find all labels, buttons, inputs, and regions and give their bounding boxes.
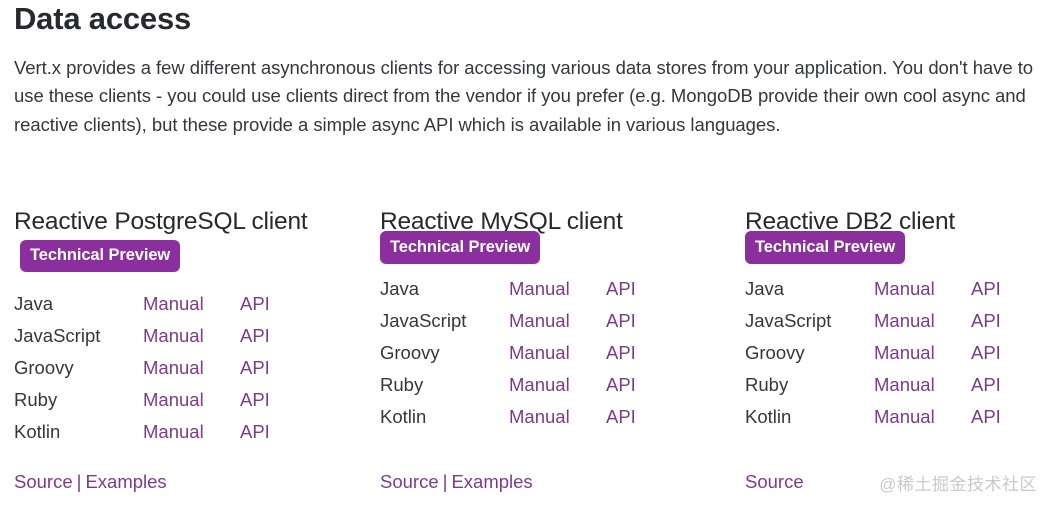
examples-link[interactable]: Examples: [451, 471, 532, 492]
link-separator: |: [439, 471, 452, 492]
table-row: Kotlin Manual API: [14, 416, 270, 448]
api-link[interactable]: API: [240, 389, 270, 410]
footer-links-postgresql: Source|Examples: [14, 470, 167, 494]
api-link[interactable]: API: [606, 278, 636, 299]
manual-link[interactable]: Manual: [509, 278, 570, 299]
table-row: Java Manual API: [14, 288, 270, 320]
manual-link[interactable]: Manual: [143, 357, 204, 378]
technical-preview-badge: Technical Preview: [20, 240, 180, 272]
link-separator: |: [73, 471, 86, 492]
footer-links-db2: Source: [745, 470, 804, 494]
column-title-text: Reactive PostgreSQL client: [14, 208, 307, 235]
api-link[interactable]: API: [971, 374, 1001, 395]
table-row: Java Manual API: [745, 273, 1001, 305]
language-table-db2: Java Manual API JavaScript Manual API Gr…: [745, 273, 1001, 433]
footer-links-mysql: Source|Examples: [380, 470, 533, 494]
data-access-page: Data access Vert.x provides a few differ…: [0, 0, 1051, 514]
api-link[interactable]: API: [971, 310, 1001, 331]
api-link[interactable]: API: [971, 406, 1001, 427]
manual-link[interactable]: Manual: [143, 325, 204, 346]
client-column-db2: Reactive DB2 client Technical Preview Ja…: [745, 206, 1037, 433]
language-label: Kotlin: [14, 416, 143, 448]
api-link[interactable]: API: [240, 421, 270, 442]
language-label: Kotlin: [380, 401, 509, 433]
manual-link[interactable]: Manual: [509, 406, 570, 427]
manual-link[interactable]: Manual: [143, 421, 204, 442]
watermark: @稀土掘金技术社区: [879, 474, 1037, 496]
api-link[interactable]: API: [240, 293, 270, 314]
manual-link[interactable]: Manual: [509, 310, 570, 331]
manual-link[interactable]: Manual: [874, 278, 935, 299]
api-link[interactable]: API: [606, 406, 636, 427]
table-row: Java Manual API: [380, 273, 636, 305]
technical-preview-badge: Technical Preview: [745, 231, 905, 264]
table-row: JavaScript Manual API: [14, 320, 270, 352]
table-row: Kotlin Manual API: [380, 401, 636, 433]
manual-link[interactable]: Manual: [509, 342, 570, 363]
api-link[interactable]: API: [606, 374, 636, 395]
language-table-postgresql: Java Manual API JavaScript Manual API Gr…: [14, 288, 270, 448]
language-label: Java: [380, 273, 509, 305]
api-link[interactable]: API: [606, 310, 636, 331]
page-title: Data access: [14, 0, 1037, 36]
manual-link[interactable]: Manual: [874, 310, 935, 331]
source-link[interactable]: Source: [380, 471, 439, 492]
intro-paragraph: Vert.x provides a few different asynchro…: [14, 54, 1036, 140]
examples-link[interactable]: Examples: [85, 471, 166, 492]
source-link[interactable]: Source: [745, 471, 804, 492]
manual-link[interactable]: Manual: [874, 406, 935, 427]
language-label: Groovy: [380, 337, 509, 369]
language-label: Ruby: [14, 384, 143, 416]
language-table-mysql: Java Manual API JavaScript Manual API Gr…: [380, 273, 636, 433]
table-row: Groovy Manual API: [14, 352, 270, 384]
language-label: Java: [14, 288, 143, 320]
source-link[interactable]: Source: [14, 471, 73, 492]
language-label: JavaScript: [14, 320, 143, 352]
technical-preview-badge: Technical Preview: [380, 231, 540, 264]
table-row: JavaScript Manual API: [380, 305, 636, 337]
language-label: Kotlin: [745, 401, 874, 433]
table-row: Kotlin Manual API: [745, 401, 1001, 433]
api-link[interactable]: API: [606, 342, 636, 363]
badge-row-db2: Technical Preview: [745, 239, 1037, 257]
table-row: Groovy Manual API: [380, 337, 636, 369]
table-row: Ruby Manual API: [745, 369, 1001, 401]
language-label: Groovy: [14, 352, 143, 384]
language-label: JavaScript: [380, 305, 509, 337]
client-columns: Reactive PostgreSQL clientTechnical Prev…: [14, 206, 1037, 448]
manual-link[interactable]: Manual: [143, 389, 204, 410]
api-link[interactable]: API: [240, 357, 270, 378]
table-row: JavaScript Manual API: [745, 305, 1001, 337]
client-column-postgresql: Reactive PostgreSQL clientTechnical Prev…: [14, 206, 380, 448]
language-label: Java: [745, 273, 874, 305]
client-column-mysql: Reactive MySQL client Technical Preview …: [380, 206, 745, 433]
api-link[interactable]: API: [971, 278, 1001, 299]
column-heading-postgresql: Reactive PostgreSQL clientTechnical Prev…: [14, 206, 380, 272]
language-label: JavaScript: [745, 305, 874, 337]
language-label: Groovy: [745, 337, 874, 369]
manual-link[interactable]: Manual: [143, 293, 204, 314]
language-label: Ruby: [380, 369, 509, 401]
manual-link[interactable]: Manual: [874, 374, 935, 395]
table-row: Ruby Manual API: [14, 384, 270, 416]
badge-row-mysql: Technical Preview: [380, 239, 745, 257]
table-row: Groovy Manual API: [745, 337, 1001, 369]
api-link[interactable]: API: [971, 342, 1001, 363]
language-label: Ruby: [745, 369, 874, 401]
manual-link[interactable]: Manual: [874, 342, 935, 363]
table-row: Ruby Manual API: [380, 369, 636, 401]
api-link[interactable]: API: [240, 325, 270, 346]
manual-link[interactable]: Manual: [509, 374, 570, 395]
